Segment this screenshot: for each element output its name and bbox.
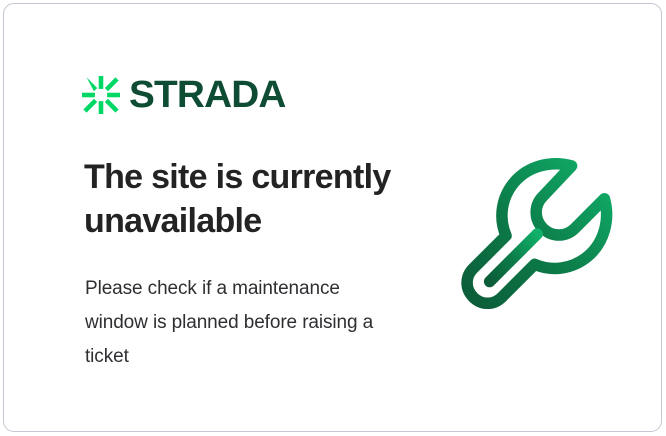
status-card: STRADA The site is currently unavailable…	[3, 3, 662, 432]
page-description: Please check if a maintenance window is …	[85, 272, 390, 373]
brand-logo: STRADA	[82, 74, 283, 116]
wrench-icon	[456, 151, 620, 317]
brand-wordmark: STRADA	[129, 76, 286, 114]
page-title: The site is currently unavailable	[84, 156, 414, 243]
strada-asterisk-icon	[82, 76, 120, 114]
error-page: STRADA The site is currently unavailable…	[0, 0, 666, 436]
